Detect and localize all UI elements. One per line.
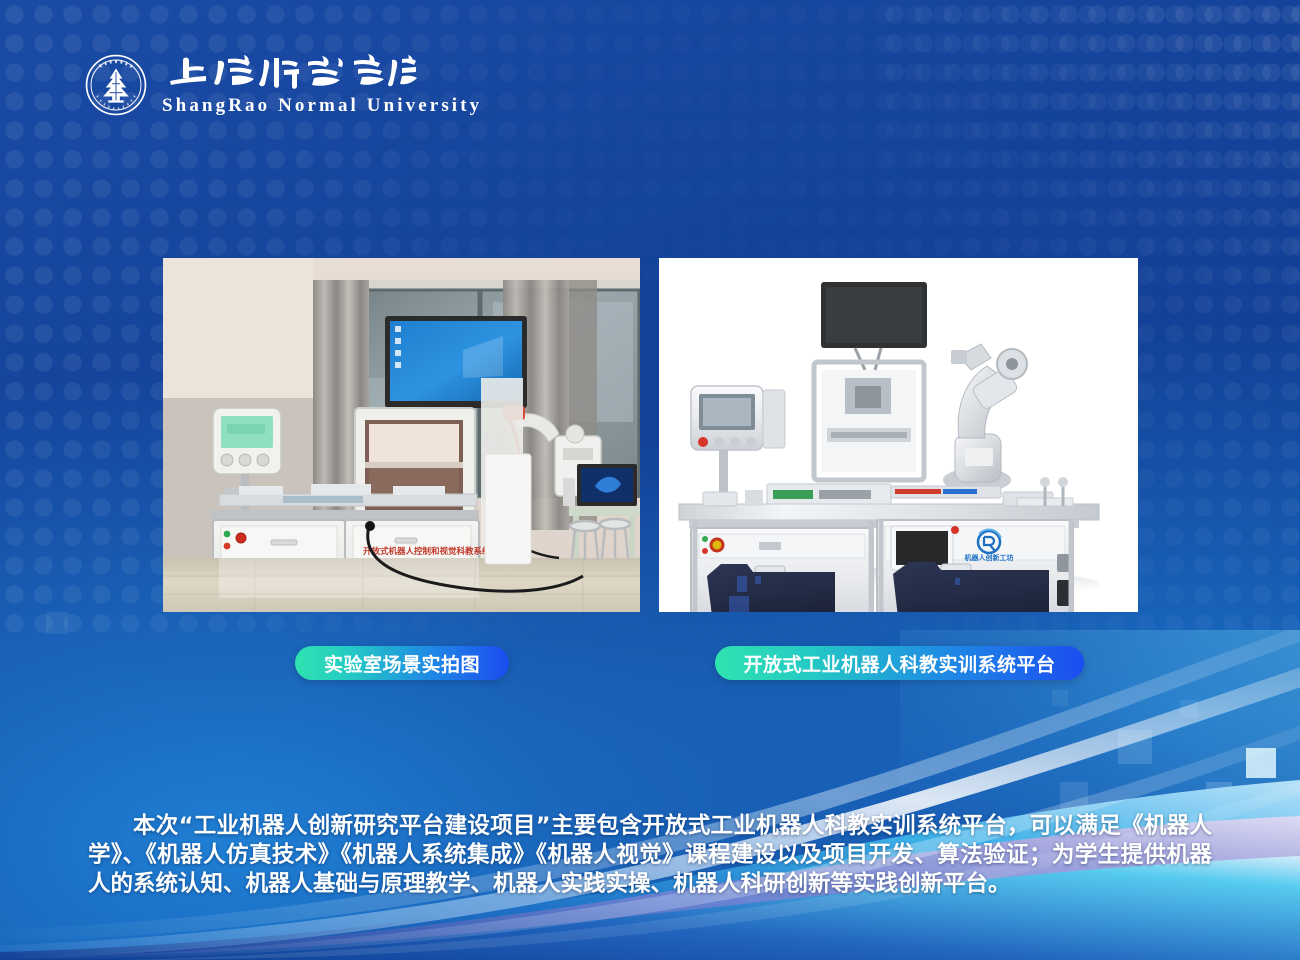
description-text: 本次“工业机器人创新研究平台建设项目”主要包含开放式工业机器人科教实训系统平台，… — [88, 812, 1212, 899]
svg-text:开放式机器人控制和视觉科教系统: 开放式机器人控制和视觉科教系统 — [363, 546, 491, 557]
description-paragraph: 本次“工业机器人创新研究平台建设项目”主要包含开放式工业机器人科教实训系统平台，… — [88, 812, 1212, 899]
training-platform-illustration: 机器人创新工坊 — [659, 258, 1138, 612]
svg-text:机器人创新工坊: 机器人创新工坊 — [965, 553, 1014, 562]
university-name-en: ShangRao Normal University — [162, 95, 482, 117]
cabinet-body-icon: 机器人创新工坊 — [689, 520, 1079, 612]
caption-laboratory-scene[interactable]: 实验室场景实拍图 — [295, 646, 509, 680]
laboratory-scene-photo: 开放式机器人控制和视觉科教系统 — [163, 258, 640, 612]
vision-enclosure-icon — [355, 408, 475, 526]
training-platform-render-photo: 机器人创新工坊 — [659, 258, 1138, 612]
university-name-cn-icon — [162, 52, 418, 92]
slide-canvas: ShangRao Normal University — [0, 0, 1300, 960]
laboratory-scene-illustration: 开放式机器人控制和视觉科教系统 — [163, 258, 640, 612]
vision-cell-icon — [814, 362, 924, 480]
university-crest-icon — [84, 53, 148, 117]
university-logo: ShangRao Normal University — [84, 52, 482, 117]
logo-wordmark: ShangRao Normal University — [162, 52, 482, 117]
background-light-waves — [0, 630, 1300, 960]
caption-training-platform[interactable]: 开放式工业机器人科教实训系统平台 — [715, 646, 1084, 680]
